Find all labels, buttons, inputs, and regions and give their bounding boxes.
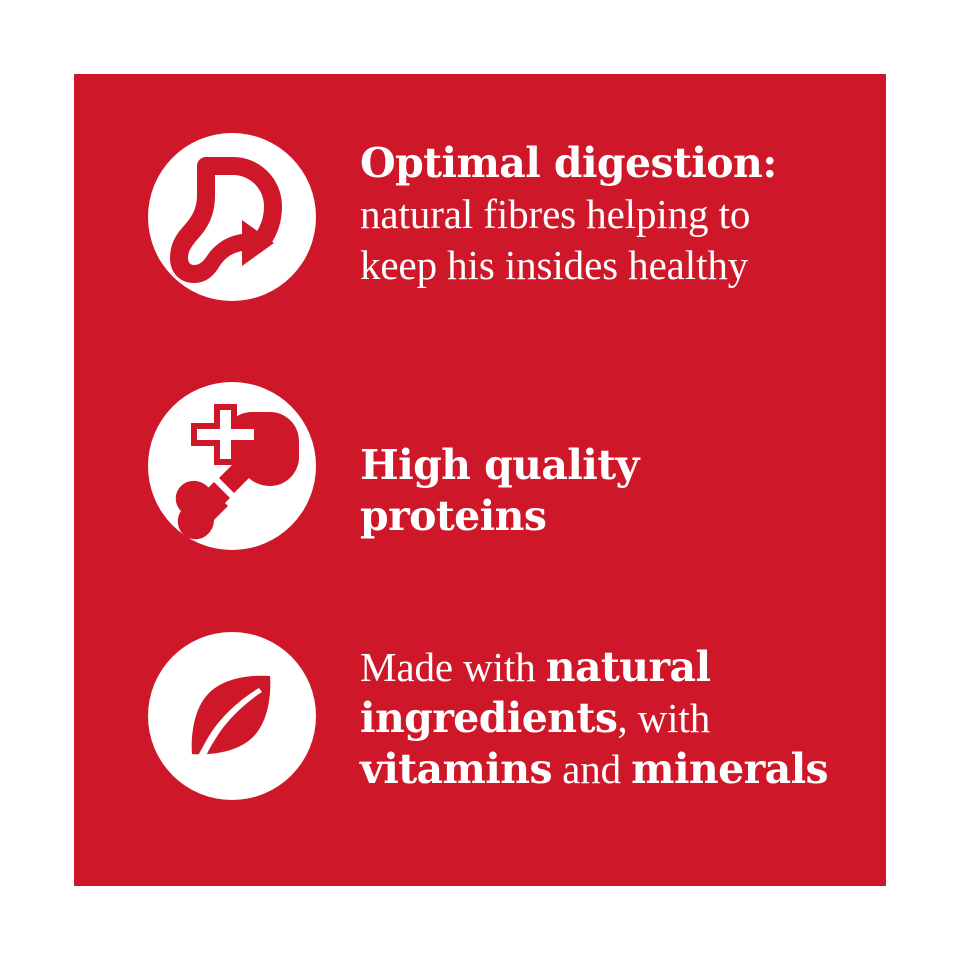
chicken-drumstick-plus-icon-badge [148, 382, 316, 550]
stomach-digestion-icon [148, 133, 316, 301]
chicken-drumstick-plus-icon [148, 382, 316, 550]
feature-text-natural: Made with natural ingredients, with vita… [360, 642, 886, 795]
leaf-natural-icon [148, 632, 316, 800]
leaf-natural-icon-badge [148, 632, 316, 800]
natural-seg-6: minerals [631, 745, 828, 793]
feature-heading-digestion: Optimal digestion: [360, 139, 777, 187]
feature-row-digestion: Optimal digestion: natural fibres helpin… [74, 133, 886, 301]
feature-body-digestion: natural fibres helping to keep his insid… [360, 191, 750, 288]
feature-text-proteins: High quality proteins [360, 440, 886, 542]
feature-heading-proteins: High quality proteins [360, 441, 639, 540]
natural-seg-5: and [552, 746, 631, 792]
stomach-digestion-icon-badge [148, 133, 316, 301]
natural-seg-3: , with [617, 695, 710, 741]
natural-seg-1: Made with [360, 644, 546, 690]
infographic-canvas: Optimal digestion: natural fibres helpin… [0, 0, 960, 960]
feature-row-proteins: High quality proteins [74, 382, 886, 550]
feature-text-digestion: Optimal digestion: natural fibres helpin… [360, 138, 886, 291]
red-feature-panel: Optimal digestion: natural fibres helpin… [74, 74, 886, 886]
feature-row-natural: Made with natural ingredients, with vita… [74, 632, 886, 800]
natural-seg-4: vitamins [360, 745, 552, 793]
